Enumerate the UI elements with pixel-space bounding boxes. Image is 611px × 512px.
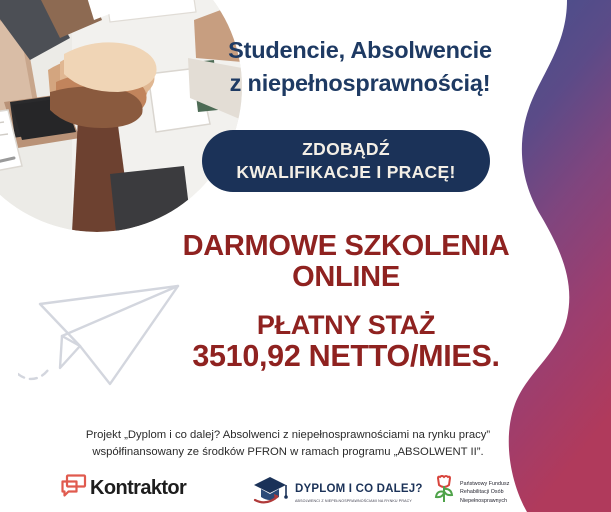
pfron-line-1: Państwowy Fundusz (460, 480, 509, 489)
kontraktor-wordmark: Kontraktor (90, 477, 186, 500)
offer-stipend: PŁATNY STAŻ 3510,92 NETTO/MIES. (146, 311, 546, 373)
logo-kontraktor: Kontraktor (60, 474, 186, 503)
pfron-line-3: Niepełnosprawnych (460, 497, 509, 506)
promotional-poster: Studencie, Absolwencie z niepełnosprawno… (0, 0, 611, 512)
dyplom-title: DYPLOM I CO DALEJ? (295, 483, 423, 495)
overlapping-rectangles-icon (60, 474, 88, 503)
logo-pfron: Państwowy Fundusz Rehabilitacji Osób Nie… (432, 475, 509, 510)
cta-line-2: KWALIFIKACJE I PRACĘ! (236, 161, 455, 184)
logo-row: Kontraktor DYPLOM I CO DALEJ? ABSOLWENCI… (52, 470, 542, 512)
headline-line-2: z niepełnosprawnością! (160, 67, 560, 100)
pfron-line-2: Rehabilitacji Osób (460, 488, 509, 497)
fineprint-line-2: współfinansowany ze środków PFRON w rama… (48, 444, 528, 461)
logo-dyplom: DYPLOM I CO DALEJ? ABSOLWENCI Z NIEPEŁNO… (250, 472, 423, 511)
page-title: Studencie, Absolwencie z niepełnosprawno… (160, 34, 560, 101)
training-line-2: ONLINE (146, 262, 546, 293)
tulip-icon (432, 475, 456, 510)
fineprint: Projekt „Dyplom i co dalej? Absolwenci z… (48, 427, 528, 461)
cta-button[interactable]: ZDOBĄDŹ KWALIFIKACJE I PRACĘ! (202, 130, 490, 192)
training-line-1: DARMOWE SZKOLENIA (146, 231, 546, 262)
fineprint-line-1: Projekt „Dyplom i co dalej? Absolwenci z… (48, 427, 528, 444)
stipend-line-1: PŁATNY STAŻ (146, 311, 546, 340)
cta-line-1: ZDOBĄDŹ (302, 138, 390, 161)
dyplom-subtitle: ABSOLWENCI Z NIEPEŁNOSPRAWNOŚCIAMI NA RY… (295, 499, 423, 503)
offer-training: DARMOWE SZKOLENIA ONLINE (146, 231, 546, 294)
graduation-cap-icon (250, 472, 290, 511)
headline-line-1: Studencie, Absolwencie (160, 34, 560, 67)
stipend-line-2: 3510,92 NETTO/MIES. (146, 340, 546, 373)
